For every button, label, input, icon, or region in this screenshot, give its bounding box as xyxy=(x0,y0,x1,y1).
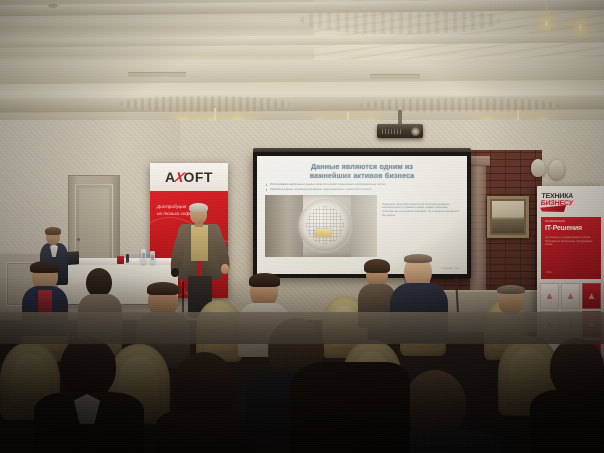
audience-member xyxy=(498,286,524,315)
ceiling-vent-right xyxy=(370,74,420,79)
audience-head xyxy=(550,338,604,398)
audience-member xyxy=(404,256,432,287)
audience-head-bald xyxy=(404,370,466,438)
wafer-gold-chip xyxy=(315,229,331,237)
water-bottle[interactable] xyxy=(141,249,146,264)
slide-bullet: Обработка данных, заложена в фундамент и… xyxy=(270,188,459,192)
projector-lens xyxy=(411,127,420,136)
floor xyxy=(0,312,604,344)
audience-torso xyxy=(156,410,256,453)
presentation-slide: Данные являются одним из важнейших актив… xyxy=(257,156,467,274)
drinking-cup[interactable] xyxy=(132,259,137,264)
ceiling-vent-left xyxy=(128,72,186,77)
slide-title-line2: важнейших активов бизнеса xyxy=(265,171,459,180)
audience-hair xyxy=(249,273,280,287)
axoft-logo: A X OFT xyxy=(165,169,213,185)
slide-photo-wafer xyxy=(265,195,377,257)
audience-dark-mass xyxy=(290,362,410,453)
audience-hair xyxy=(404,254,432,263)
audience-member-front xyxy=(404,370,466,438)
audience-torso xyxy=(530,390,604,453)
laptop-man-hair xyxy=(45,227,61,235)
slide-title: Данные являются одним из важнейших актив… xyxy=(265,162,459,180)
microphone[interactable] xyxy=(126,254,129,263)
projection-screen: Данные являются одним из важнейших актив… xyxy=(257,156,467,274)
slide-bullet: Использование накопленных данных являетс… xyxy=(270,183,459,187)
technika-date: 2014 xyxy=(546,271,552,274)
audience-member xyxy=(86,268,112,297)
axoft-logo-suffix: OFT xyxy=(183,169,213,185)
audience-member xyxy=(366,262,388,287)
wafer-machine-right xyxy=(351,195,377,257)
axoft-banner-header: A X OFT xyxy=(150,163,228,191)
technika-logo-line1: ТЕХНИКА xyxy=(541,193,603,200)
audience-member xyxy=(32,262,58,291)
wall-speaker-right xyxy=(549,160,564,179)
audience-head xyxy=(86,268,112,297)
audience-hair xyxy=(147,282,179,295)
framed-wall-picture xyxy=(487,196,529,238)
ceiling xyxy=(0,0,604,126)
audience-member-front xyxy=(550,338,604,398)
chandelier-top-right xyxy=(540,0,604,34)
wall-speaker-left xyxy=(531,159,545,177)
audience-hair xyxy=(364,259,390,273)
projector-vent xyxy=(382,129,402,134)
partner-cell xyxy=(561,283,580,309)
water-bottle[interactable] xyxy=(150,251,155,264)
technika-headline: IT-Решения xyxy=(545,225,582,232)
ceiling-beam-3 xyxy=(0,58,604,85)
presenter-leg-split xyxy=(182,282,184,316)
partner-cell xyxy=(540,283,559,309)
wafer-machine-left xyxy=(265,195,303,257)
ceiling-projector xyxy=(377,124,423,138)
pilaster-far-right xyxy=(470,156,486,306)
slide-title-line1: Данные являются одним из xyxy=(265,162,459,171)
door-knob[interactable] xyxy=(77,238,80,241)
conference-room-photo: Данные являются одним из важнейших актив… xyxy=(0,0,604,453)
technika-logo-line2: БИЗНЕСУ xyxy=(540,200,602,207)
slide-footer: ГОДОВОЙ ОТЧЁТ xyxy=(442,268,460,270)
slide-bullet-list: Использование накопленных данных являетс… xyxy=(265,183,459,192)
technika-subtitle: КОНФЕРЕНЦИЯ xyxy=(545,220,565,223)
audience-head xyxy=(60,336,116,398)
slide-body: Изменения смысловой ценности или большей… xyxy=(265,195,459,257)
presenter-hair xyxy=(189,203,208,212)
presenter-shirt xyxy=(191,225,208,261)
presenter-hand-left xyxy=(171,268,179,277)
audience-hair xyxy=(497,285,525,294)
standing-presenter xyxy=(171,204,229,314)
slide-side-text: Изменения смысловой ценности или большей… xyxy=(382,195,459,257)
technika-description: для бизнеса и государственного сектора. … xyxy=(545,236,597,247)
audience-member-front xyxy=(172,352,236,424)
presenter-hand-right xyxy=(221,264,229,274)
technika-red-panel: КОНФЕРЕНЦИЯ IT-Решения для бизнеса и гос… xyxy=(541,217,601,279)
technika-logo: ТЕХНИКА БИЗНЕСУ xyxy=(540,193,603,208)
silicon-wafer xyxy=(299,199,351,251)
red-cup[interactable] xyxy=(117,256,124,264)
audience-hair xyxy=(30,261,60,273)
picture-image xyxy=(492,201,524,233)
wafer-die-grid xyxy=(306,206,344,244)
audience-member-front xyxy=(60,336,116,398)
audience-member xyxy=(250,276,278,307)
partner-cell xyxy=(582,283,601,309)
projection-screen-frame: Данные являются одним из важнейших актив… xyxy=(253,152,471,278)
ceiling-spotlight xyxy=(48,4,58,8)
